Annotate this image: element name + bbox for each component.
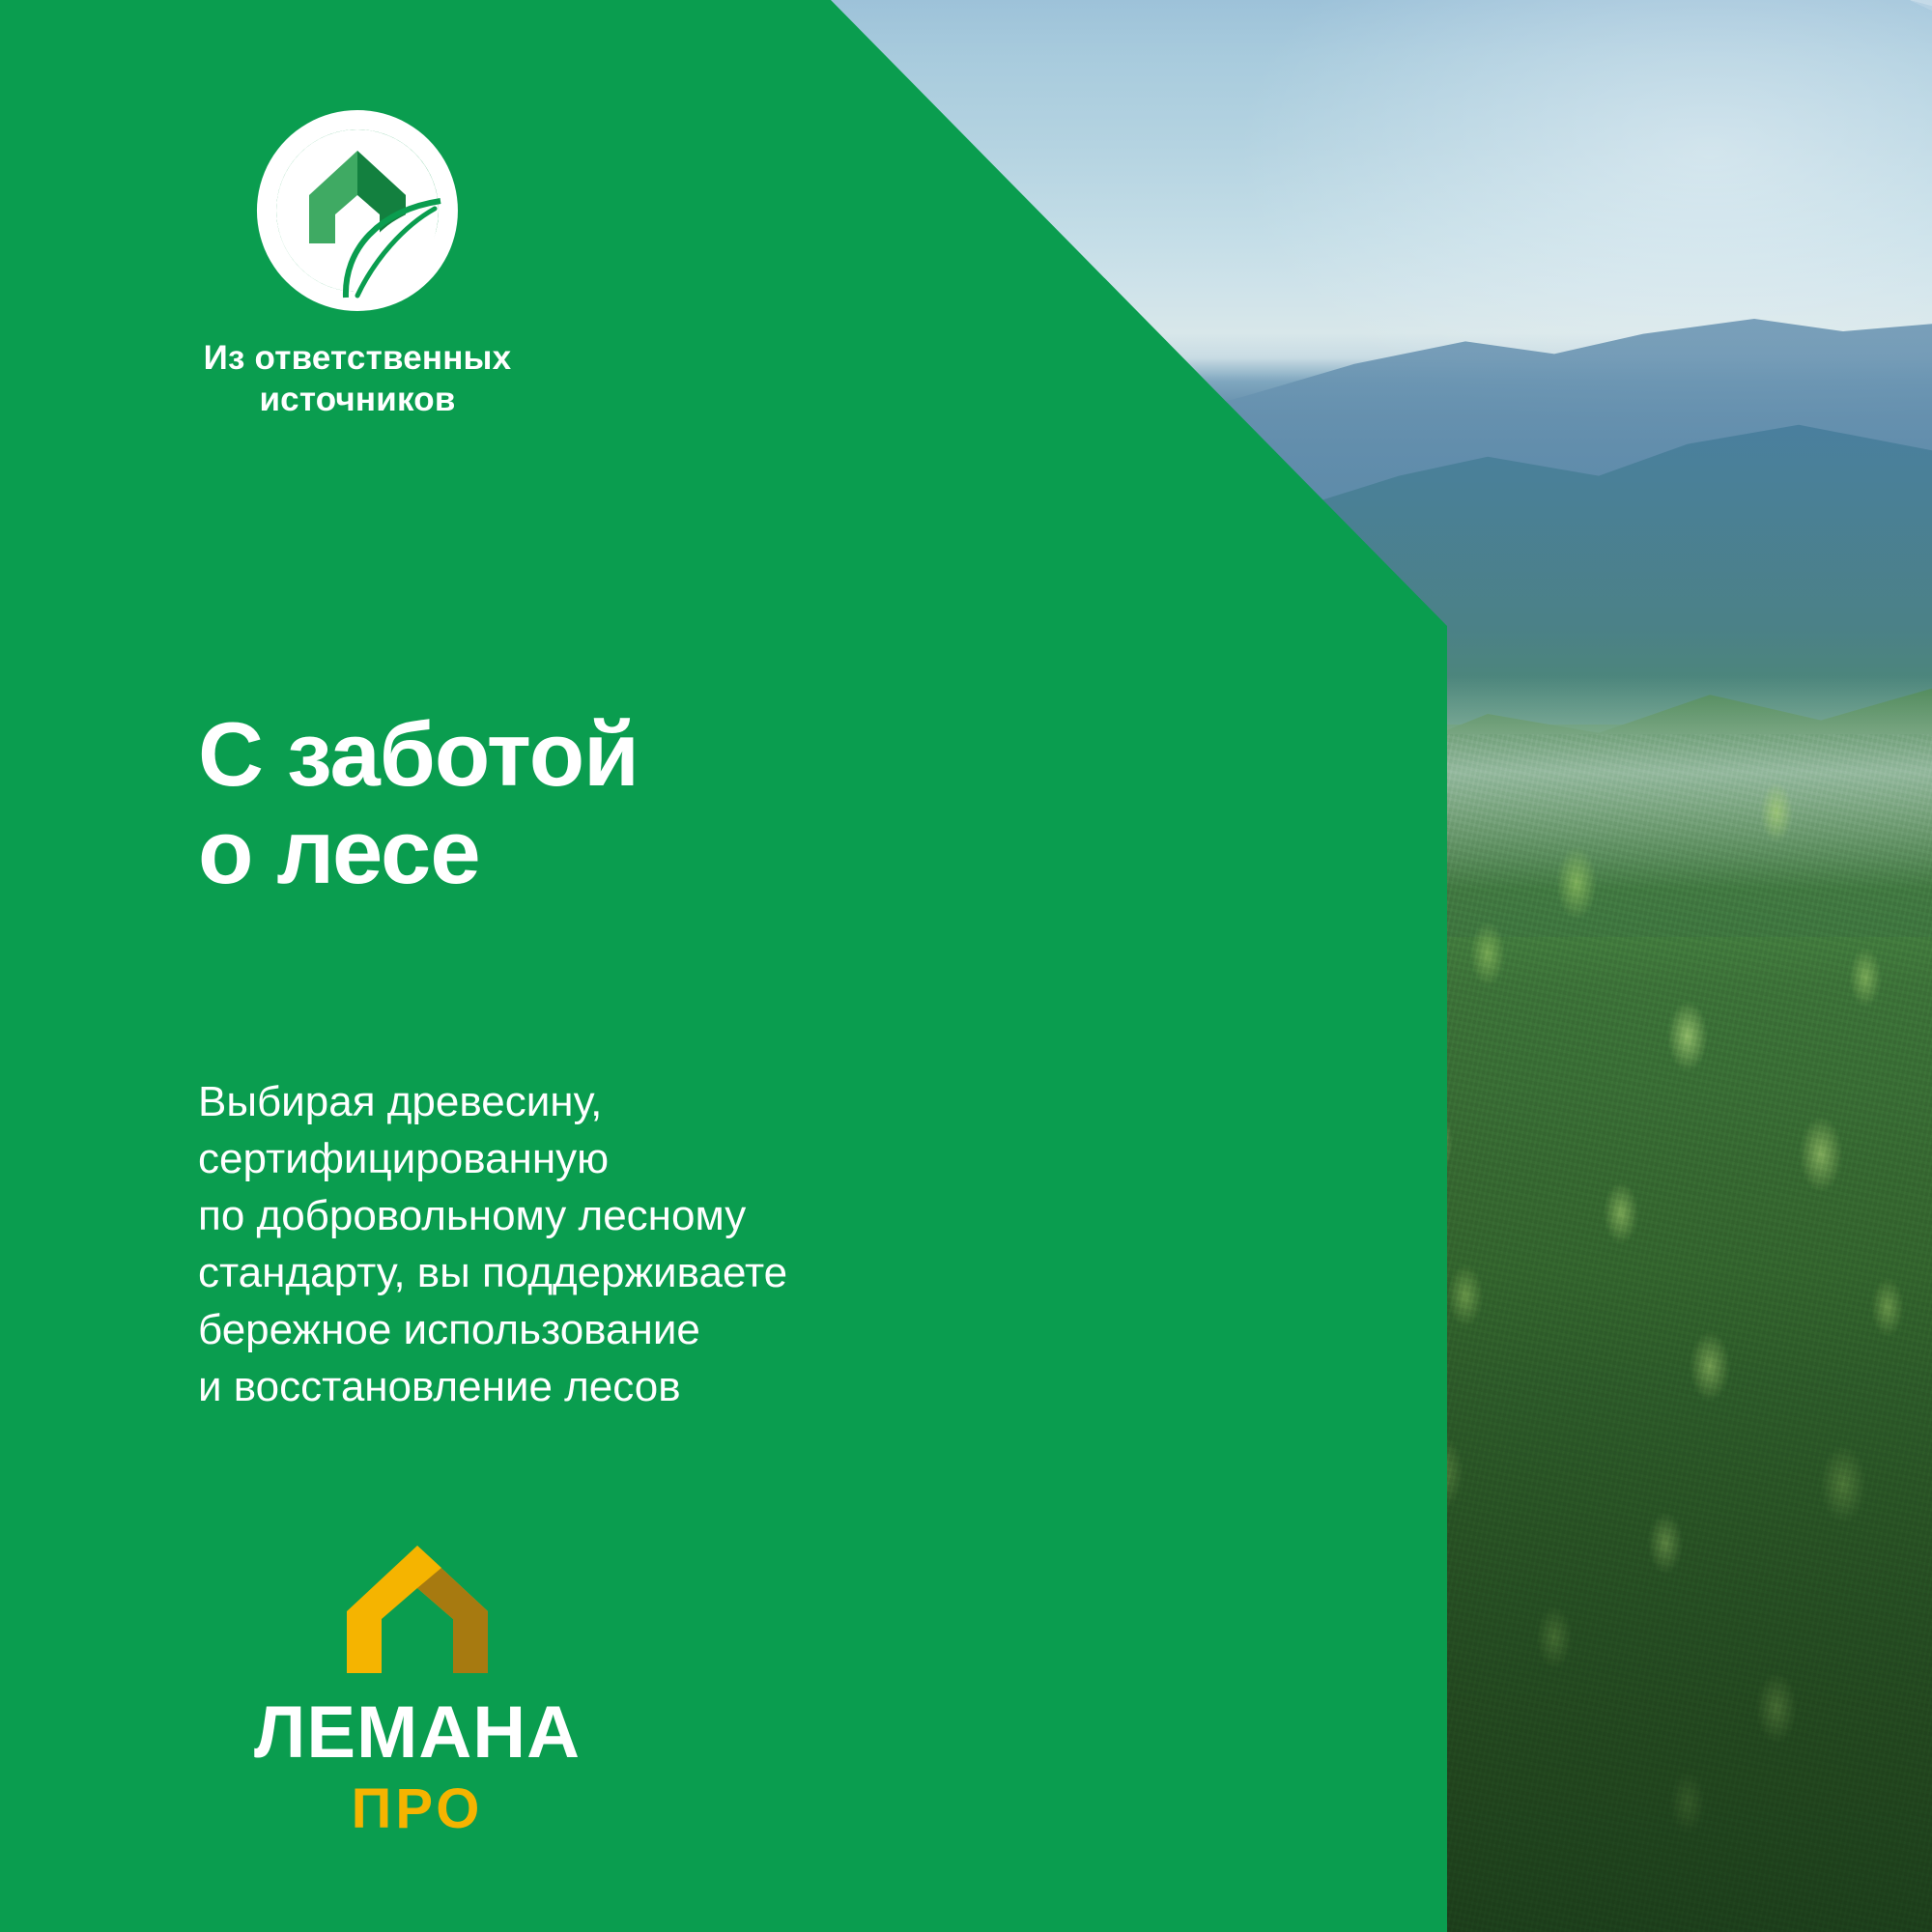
lemana-house-icon [345,1544,490,1675]
promo-poster: Из ответственных источников С заботой о … [0,0,1932,1932]
house-leaf-circle-icon [251,104,464,317]
page-title: С заботой о лесе [198,706,639,900]
brand-name: ЛЕМАНА [224,1696,611,1770]
certification-caption: Из ответственных источников [198,338,517,420]
body-copy: Выбирая древесину, сертифицированную по … [198,1074,787,1416]
certification-logo: Из ответственных источников [246,104,469,420]
brand-subtitle: ПРО [224,1781,611,1837]
brand-logo: ЛЕМАНА ПРО [224,1544,611,1837]
